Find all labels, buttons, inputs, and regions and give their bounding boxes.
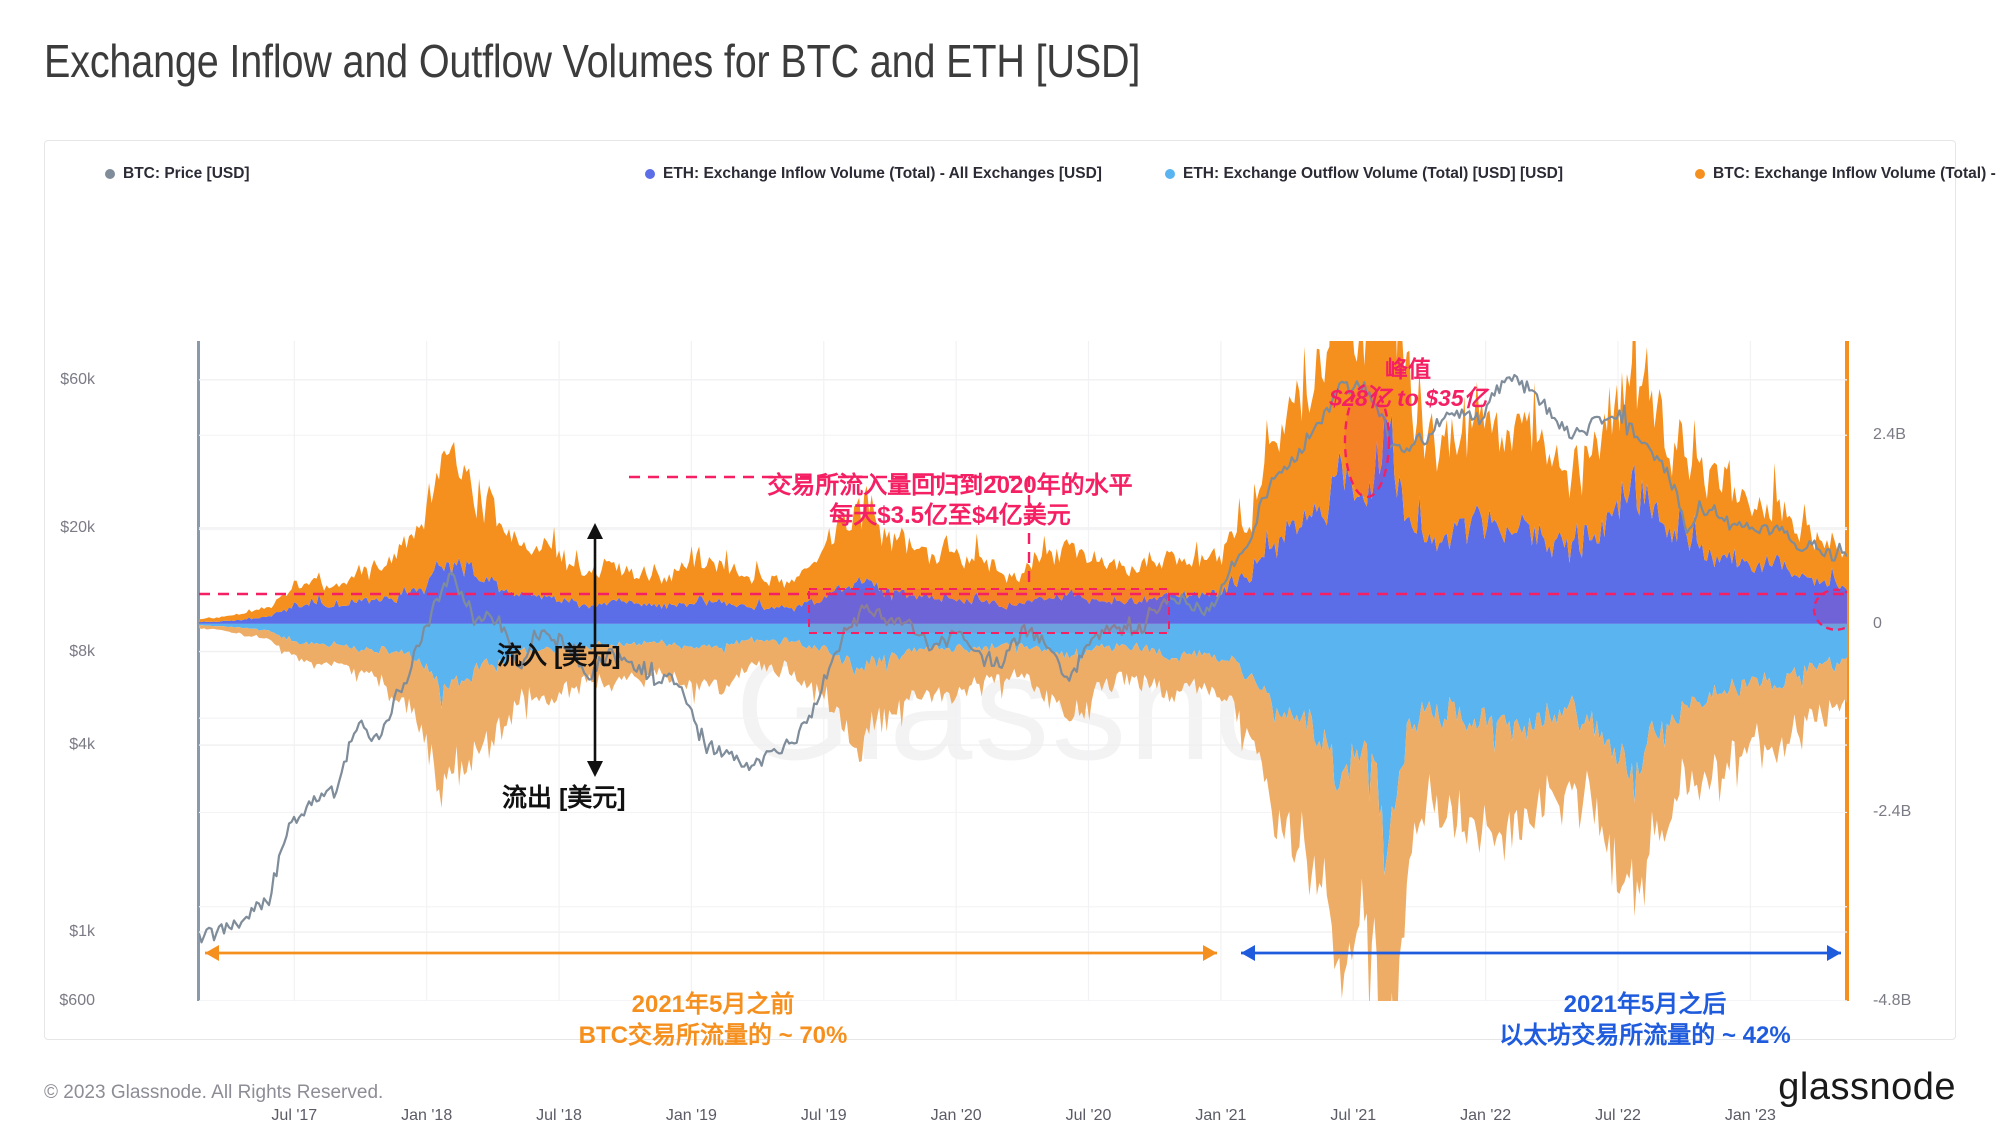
- legend-item-label: ETH: Exchange Inflow Volume (Total) - Al…: [663, 163, 1102, 184]
- arrow-head-down: [587, 761, 603, 777]
- peak-annotation: 峰值 $28亿 to $35亿: [1273, 355, 1543, 413]
- x-axis-tick-label: Jan '23: [1725, 1107, 1776, 1125]
- x-axis-tick-label: Jul '20: [1066, 1107, 1112, 1125]
- chart-svg: [199, 341, 1847, 1001]
- x-axis-tick-label: Jan '18: [401, 1107, 452, 1125]
- left-axis-tick-label: $8k: [69, 643, 95, 661]
- legend-color-dot: [645, 169, 655, 179]
- return-to-2020-line2: 每天$3.5亿至$4亿美元: [755, 501, 1145, 531]
- glassnode-logo: glassnode: [1778, 1066, 1956, 1109]
- legend-item-label: BTC: Exchange Inflow Volume (Total) - Al…: [1713, 163, 2000, 184]
- x-axis-tick-label: Jul '17: [271, 1107, 317, 1125]
- return-to-2020-line1: 交易所流入量回归到2020年的水平: [755, 471, 1145, 501]
- legend-item-label: ETH: Exchange Outflow Volume (Total) [US…: [1183, 163, 1563, 184]
- x-axis-tick-label: Jul '19: [801, 1107, 847, 1125]
- arrow-head-up: [587, 523, 603, 539]
- left-axis-tick-label: $4k: [69, 736, 95, 754]
- legend-color-dot: [105, 169, 115, 179]
- chart-page: Exchange Inflow and Outflow Volumes for …: [0, 0, 2000, 1144]
- right-axis-tick-label: -4.8B: [1873, 992, 1911, 1010]
- outflow-annotation-label: 流出 [美元]: [502, 778, 626, 814]
- legend-item-3[interactable]: BTC: Exchange Inflow Volume (Total) - Al…: [1695, 163, 2000, 184]
- pre-may-2021-line1: 2021年5月之前: [513, 989, 913, 1020]
- legend-color-dot: [1165, 169, 1175, 179]
- left-axis-tick-label: $600: [59, 992, 95, 1010]
- pre-may-2021-span-arrow-head-1: [1203, 945, 1217, 961]
- pre-may-2021-line2: BTC交易所流量的 ~ 70%: [513, 1020, 913, 1051]
- page-title: Exchange Inflow and Outflow Volumes for …: [44, 34, 1140, 88]
- right-axis-tick-label: -2.4B: [1873, 803, 1911, 821]
- x-axis-tick-label: Jan '21: [1195, 1107, 1246, 1125]
- legend-color-dot: [1695, 169, 1705, 179]
- x-axis-tick-label: Jul '21: [1330, 1107, 1376, 1125]
- copyright-text: © 2023 Glassnode. All Rights Reserved.: [44, 1082, 383, 1104]
- legend-item-2[interactable]: ETH: Exchange Outflow Volume (Total) [US…: [1165, 163, 1685, 184]
- left-axis-tick-label: $20k: [60, 519, 95, 537]
- chart-legend[interactable]: BTC: Price [USD]ETH: Exchange Inflow Vol…: [105, 163, 1905, 184]
- left-axis-tick-label: $1k: [69, 923, 95, 941]
- x-axis-tick-label: Jan '20: [931, 1107, 982, 1125]
- peak-annotation-line2: $28亿 to $35亿: [1273, 384, 1543, 413]
- highlight-box-2020: [809, 589, 1169, 633]
- post-may-2021-line2: 以太坊交易所流量的 ~ 42%: [1435, 1020, 1855, 1051]
- x-axis-tick-label: Jul '18: [536, 1107, 582, 1125]
- return-to-2020-annotation: 交易所流入量回归到2020年的水平 每天$3.5亿至$4亿美元: [755, 471, 1145, 531]
- right-axis-tick-label: 0: [1873, 615, 1882, 633]
- post-may-2021-line1: 2021年5月之后: [1435, 989, 1855, 1020]
- x-axis-tick-label: Jul '22: [1595, 1107, 1641, 1125]
- post-may-2021-span-arrow-head-1: [1827, 945, 1841, 961]
- x-axis-tick-label: Jan '19: [666, 1107, 717, 1125]
- plot-area[interactable]: [199, 341, 1847, 1001]
- legend-item-1[interactable]: ETH: Exchange Inflow Volume (Total) - Al…: [645, 163, 1155, 184]
- left-axis-tick-label: $60k: [60, 371, 95, 389]
- post-may-2021-span-arrow-head-0: [1241, 945, 1255, 961]
- inflow-annotation-label: 流入 [美元]: [497, 636, 621, 672]
- pre-may-2021-annotation: 2021年5月之前 BTC交易所流量的 ~ 70%: [513, 989, 913, 1051]
- legend-item-label: BTC: Price [USD]: [123, 163, 250, 184]
- peak-annotation-line1: 峰值: [1273, 355, 1543, 384]
- x-axis-tick-label: Jan '22: [1460, 1107, 1511, 1125]
- right-axis-tick-label: 2.4B: [1873, 426, 1906, 444]
- post-may-2021-annotation: 2021年5月之后 以太坊交易所流量的 ~ 42%: [1435, 989, 1855, 1051]
- legend-item-0[interactable]: BTC: Price [USD]: [105, 163, 635, 184]
- pre-may-2021-span-arrow-head-0: [205, 945, 219, 961]
- chart-card: BTC: Price [USD]ETH: Exchange Inflow Vol…: [44, 140, 1956, 1040]
